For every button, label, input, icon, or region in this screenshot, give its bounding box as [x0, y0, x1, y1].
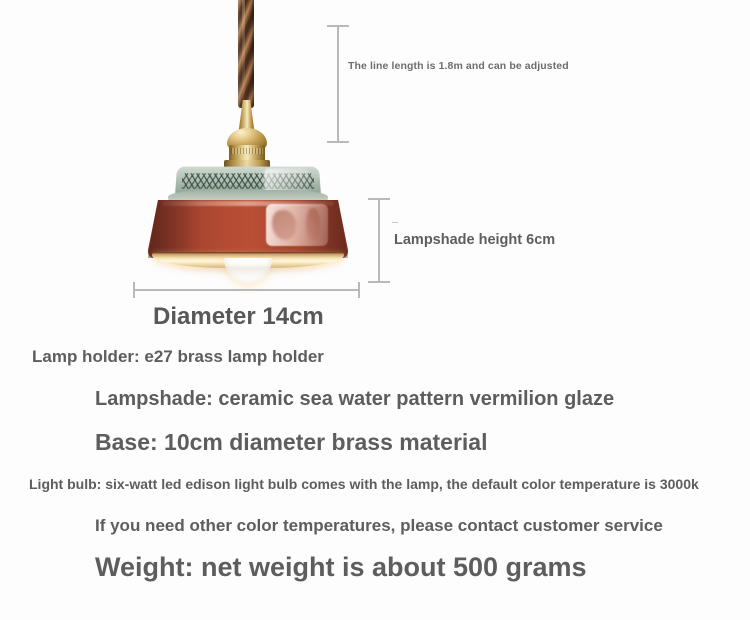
spec-lamp-holder: Lamp holder: e27 brass lamp holder [32, 347, 324, 367]
lampshade-body [148, 200, 348, 258]
spec-color-temperature-note: If you need other color temperatures, pl… [95, 516, 663, 536]
dimension-cap-top [327, 25, 349, 27]
spec-base: Base: 10cm diameter brass material [95, 429, 488, 456]
cord-length-dimension-line [337, 25, 339, 143]
body-specular-reflection [266, 204, 328, 246]
power-cord [238, 0, 254, 108]
dimension-cap-top [368, 198, 390, 200]
product-photo [0, 0, 400, 300]
lampshade-drop-shadow [162, 266, 334, 276]
lampshade-height-tick-mark [392, 222, 398, 223]
spec-light-bulb: Light bulb: six-watt led edison light bu… [29, 476, 699, 492]
product-spec-page: The line length is 1.8m and can be adjus… [0, 0, 750, 620]
dimension-cap-bottom [368, 281, 390, 283]
lampshade-height-dimension-line [378, 198, 380, 283]
diameter-dimension-line [133, 289, 360, 291]
body-left-facet [148, 200, 200, 258]
diameter-label: Diameter 14cm [153, 303, 324, 331]
lampshade [148, 166, 348, 272]
lampshade-height-label: Lampshade height 6cm [394, 232, 555, 248]
dimension-cap-bottom [327, 141, 349, 143]
dimension-cap-right [358, 282, 360, 298]
cord-length-label: The line length is 1.8m and can be adjus… [348, 60, 569, 72]
dimension-cap-left [133, 282, 135, 298]
spec-lampshade: Lampshade: ceramic sea water pattern ver… [95, 388, 614, 411]
spec-weight: Weight: net weight is about 500 grams [95, 552, 587, 583]
